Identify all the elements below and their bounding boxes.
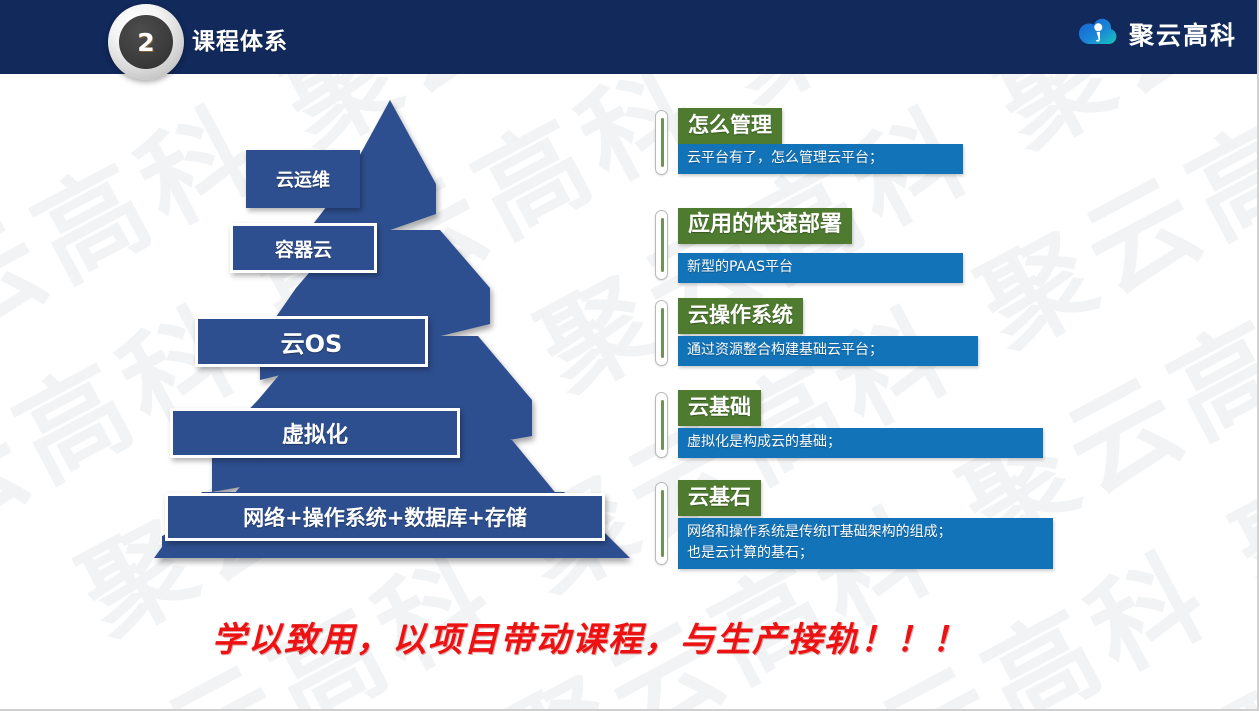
page-title: 课程体系 (192, 22, 288, 56)
pyramid-diagram: 云运维 容器云 云OS 虚拟化 网络+操作系统+数据库+存储 (140, 88, 660, 568)
slide-canvas: 聚云高科 聚云高科 聚云高科 聚云高科 聚云高科 聚云高科 聚云高科 聚云高科 … (0, 0, 1259, 711)
info-block-body: 云平台有了，怎么管理云平台； (678, 144, 963, 174)
info-block-heading: 应用的快速部署 (678, 208, 852, 244)
info-block-heading: 云基石 (678, 480, 761, 516)
pill-inner-line (661, 308, 664, 358)
green-pill-marker (655, 392, 668, 458)
slogan-text: 学以致用，以项目带动课程，与生产接轨！！！ (0, 612, 1180, 661)
section-number-badge: 2 (108, 4, 184, 80)
pyramid-level-4-label: 虚拟化 (170, 408, 460, 458)
pill-inner-line (661, 490, 664, 557)
section-number-value: 2 (119, 15, 173, 69)
pill-inner-line (661, 118, 664, 167)
green-pill-marker (655, 110, 668, 175)
info-block-body: 通过资源整合构建基础云平台； (678, 336, 978, 366)
pyramid-level-5-label: 网络+操作系统+数据库+存储 (165, 493, 605, 541)
header-bar-underline (0, 68, 1259, 74)
info-block-heading: 云基础 (678, 390, 761, 426)
info-block-body: 网络和操作系统是传统IT基础架构的组成； 也是云计算的基石； (678, 518, 1053, 569)
info-block-body: 虚拟化是构成云的基础； (678, 428, 1043, 458)
info-block-heading: 云操作系统 (678, 298, 803, 334)
info-block-body: 新型的PAAS平台 (678, 253, 963, 283)
brand-name: 聚云高科 (1129, 16, 1237, 52)
green-pill-marker (655, 482, 668, 565)
green-pill-marker (655, 300, 668, 366)
pill-inner-line (661, 400, 664, 450)
brand-logo: 聚云高科 (1076, 12, 1237, 56)
pill-inner-line (661, 218, 664, 272)
pyramid-level-1-label: 云运维 (246, 150, 360, 208)
green-pill-marker (655, 210, 668, 280)
pyramid-level-2-label: 容器云 (230, 223, 377, 273)
cloud-logo-icon (1076, 14, 1120, 54)
header-bar (0, 0, 1259, 68)
info-block-heading: 怎么管理 (678, 108, 782, 144)
pyramid-level-3-label: 云OS (195, 316, 428, 367)
